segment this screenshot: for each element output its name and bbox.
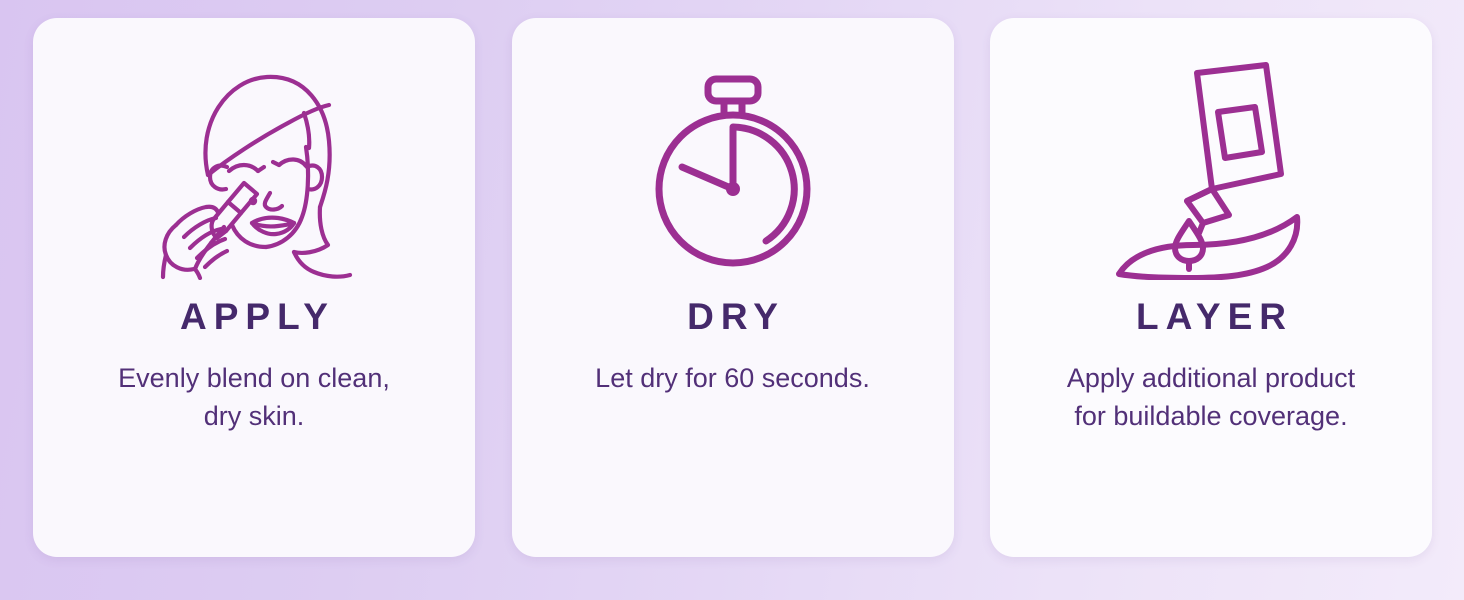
how-to-use-banner: APPLY Evenly blend on clean, dry skin. (0, 0, 1464, 600)
step-card-dry[interactable]: DRY Let dry for 60 seconds. (512, 18, 954, 557)
woman-applying-serum-to-face-icon (33, 42, 475, 292)
card-description: Evenly blend on clean, dry skin. (118, 359, 390, 436)
card-title: DRY (680, 298, 785, 335)
card-description: Apply additional product for buildable c… (1067, 359, 1355, 436)
card-title: APPLY (173, 298, 335, 335)
steps-card-row: APPLY Evenly blend on clean, dry skin. (33, 18, 1432, 557)
step-card-layer[interactable]: LAYER Apply additional product for build… (990, 18, 1432, 557)
step-card-apply[interactable]: APPLY Evenly blend on clean, dry skin. (33, 18, 475, 557)
cream-tube-dispensing-onto-hand-icon (990, 42, 1432, 292)
card-description: Let dry for 60 seconds. (595, 359, 870, 397)
card-title: LAYER (1129, 298, 1293, 335)
stopwatch-icon (512, 42, 954, 292)
